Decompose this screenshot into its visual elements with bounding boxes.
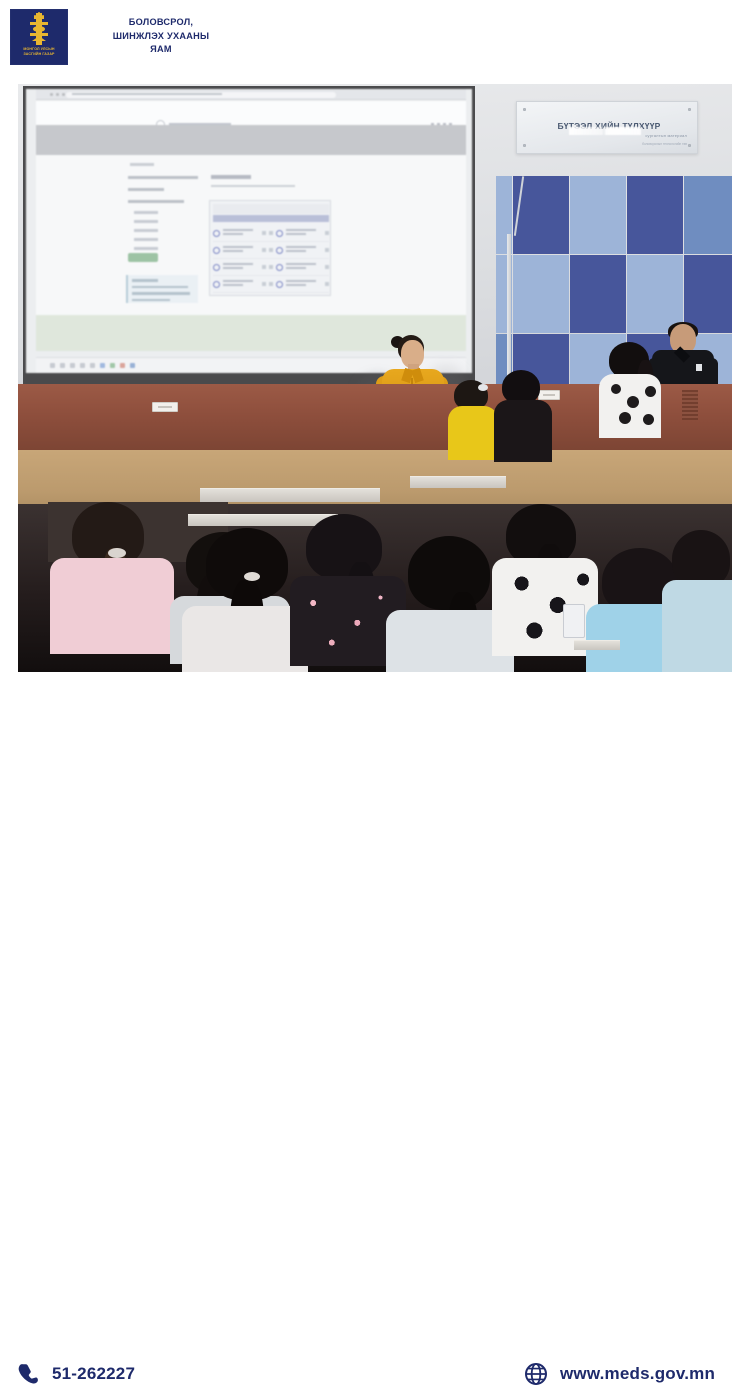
site-header [36, 101, 466, 125]
logo-caption-line-2: ЗАСГИЙН ГАЗАР [11, 52, 67, 57]
list-item [668, 530, 732, 672]
notice-callout [126, 275, 198, 303]
event-photograph: БҮТЭЭЛ ХИЙН ТҮЛХҮҮР сургалтын материал б… [18, 84, 732, 672]
list-item [213, 259, 329, 276]
list-item [603, 342, 659, 438]
submit-button [128, 253, 158, 262]
wall-outlet [152, 402, 178, 412]
list-item [213, 225, 329, 242]
logo-caption: МОНГОЛ УЛСЫН ЗАСГИЙН ГАЗАР [11, 47, 67, 57]
embedded-screenshot [209, 200, 331, 296]
list-item [496, 370, 550, 462]
breadcrumb [130, 163, 154, 166]
list-item [184, 528, 302, 672]
ministry-name-line-3: ЯАМ [76, 43, 246, 57]
sign-glare-reflection [569, 127, 641, 135]
radio-option-group [134, 211, 158, 256]
ministry-name-line-2: ШИНЖЛЭХ УХААНЫ [76, 30, 246, 44]
list-item [54, 502, 166, 652]
desk [410, 476, 506, 488]
list-item [213, 276, 329, 293]
desk [200, 488, 380, 502]
soyombo-emblem-icon [29, 13, 49, 45]
wall-vent [682, 390, 698, 420]
page-hero-band [36, 125, 466, 155]
list-item [294, 514, 398, 664]
list-item [390, 536, 508, 672]
contact-website[interactable]: www.meds.gov.mn [524, 1362, 715, 1386]
list-item [448, 380, 496, 460]
form-left-column [128, 176, 200, 212]
website-url: www.meds.gov.mn [560, 1364, 715, 1384]
page-title: БОЛОВСРОЛ, ШИНЖЛЭХ УХААНЫ ЯАМ [76, 16, 246, 57]
desk [574, 640, 620, 650]
contact-phone[interactable]: 51-262227 [16, 1362, 135, 1386]
mobile-phone [563, 604, 585, 638]
ministry-logo: МОНГОЛ УЛСЫН ЗАСГИЙН ГАЗАР [10, 9, 68, 65]
wall-sign-plaque: БҮТЭЭЛ ХИЙН ТҮЛХҮҮР сургалтын материал б… [516, 101, 698, 154]
ministry-name-line-1: БОЛОВСРОЛ, [76, 16, 246, 30]
form-right-column [211, 175, 341, 187]
browser-toolbar [36, 89, 466, 100]
list-item [213, 242, 329, 259]
phone-handset-icon [16, 1362, 40, 1386]
phone-number: 51-262227 [52, 1364, 135, 1384]
wall-sign-note: боловсролын технологийн төв [577, 142, 687, 146]
projected-web-page [26, 89, 472, 373]
page-footer: 51-262227 www.meds.gov.mn [0, 672, 750, 750]
globe-icon [524, 1362, 548, 1386]
page-header: МОНГОЛ УЛСЫН ЗАСГИЙН ГАЗАР БОЛОВСРОЛ, ШИ… [0, 0, 750, 76]
